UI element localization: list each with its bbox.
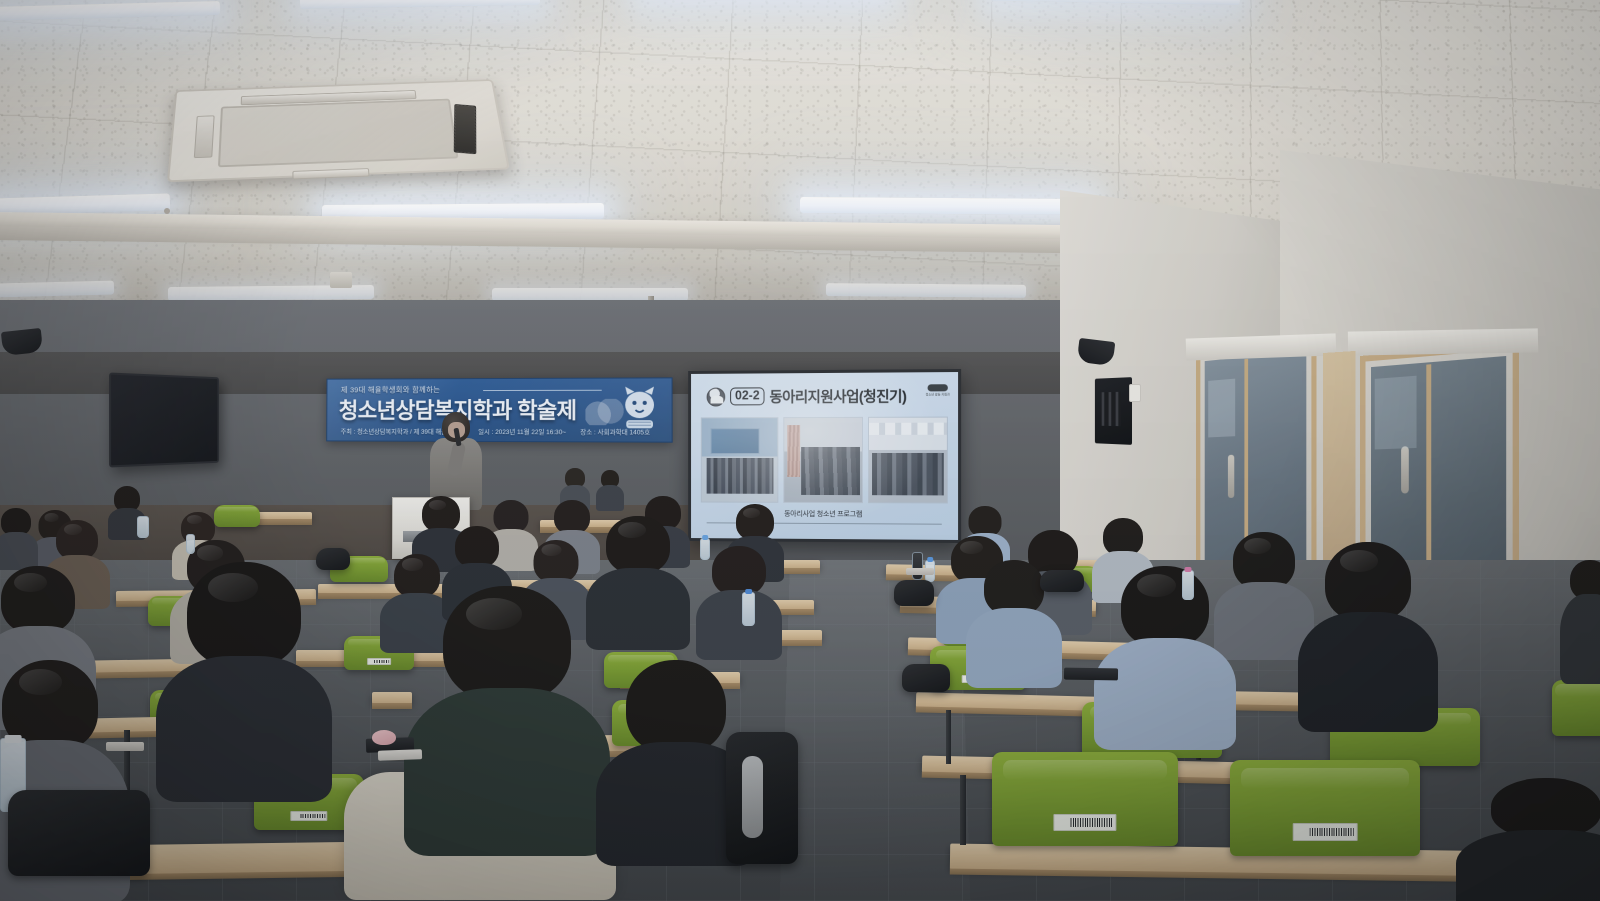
- audience-member: [1456, 778, 1600, 901]
- handbag: [1040, 570, 1084, 592]
- window-handle[interactable]: [1228, 455, 1234, 498]
- audience-member: [156, 562, 332, 792]
- window-blind-headrail[interactable]: [1348, 328, 1538, 355]
- water-bottle: [137, 516, 149, 538]
- chair[interactable]: [992, 752, 1178, 846]
- slide-photo-row: [701, 417, 948, 504]
- ceiling-light-panel: [800, 197, 1090, 215]
- water-bottle: [1182, 570, 1194, 600]
- computer-mouse[interactable]: [372, 730, 396, 745]
- window-handle[interactable]: [1401, 446, 1409, 493]
- backpack: [726, 732, 798, 864]
- audience-member: [404, 586, 610, 846]
- wall-switch-plate: [1129, 384, 1141, 402]
- ac-vane: [454, 104, 477, 154]
- slide-section-number: 02-2: [730, 387, 764, 406]
- water-bottle: [742, 592, 755, 626]
- paper-sheet: [378, 749, 422, 761]
- audience-member: [1298, 542, 1438, 726]
- tiger-mascot-icon: [614, 385, 665, 438]
- chair-asset-tag: [367, 658, 391, 664]
- chair[interactable]: [1552, 680, 1600, 736]
- chair-asset-tag: [290, 811, 327, 821]
- bottle-cap: [1185, 567, 1192, 572]
- desk-leg: [946, 710, 951, 764]
- paper-sheet: [906, 568, 934, 575]
- audience-member: [1560, 560, 1600, 680]
- notebook: [1064, 668, 1118, 681]
- slide-header: 02-2 동아리지원사업(청진기): [691, 380, 958, 411]
- slide-badge: 청소년 활동 지원과: [925, 384, 951, 400]
- slide-badge-text: 청소년 활동 지원과: [926, 392, 950, 396]
- handbag: [902, 664, 950, 692]
- tote-bag: [8, 790, 150, 876]
- wall-tv-bracket: [1095, 377, 1132, 445]
- lecture-hall-photo: EPSON 제 39대 해율학생회와 함께하는 청소년상담복지학과 학술제: [0, 0, 1600, 901]
- sprinkler-head: [164, 208, 170, 214]
- ac-filter-grille: [218, 99, 459, 168]
- water-bottle: [700, 538, 710, 560]
- slide-photo-2: [784, 417, 863, 503]
- wall-mounted-display: [109, 372, 219, 467]
- bottle-cap: [702, 535, 708, 540]
- window-reflection: [1208, 379, 1235, 438]
- banner-rule: [483, 390, 602, 391]
- bottle-cap: [927, 557, 933, 562]
- water-bottle: [186, 534, 195, 554]
- slide-photo-3: [868, 417, 948, 504]
- chair-asset-tag: [1053, 814, 1116, 831]
- bottle-cap: [745, 589, 753, 594]
- handbag: [894, 580, 934, 606]
- chair[interactable]: [1230, 760, 1420, 856]
- slide-badge-pill: [928, 384, 948, 391]
- speaker-at-front: [424, 412, 486, 508]
- character-avatar-icon: [707, 387, 726, 406]
- ac-vane: [194, 115, 215, 158]
- window-reflection: [1375, 376, 1417, 450]
- tumbler: [912, 552, 923, 580]
- audience-member: [0, 508, 38, 566]
- audience-member: [696, 546, 782, 656]
- audience-member: [596, 470, 624, 510]
- slide-title: 동아리지원사업(청진기): [769, 385, 906, 407]
- desk-leg: [960, 775, 966, 845]
- banner-datetime: 일시 : 2023년 11월 22일 16:30~: [478, 427, 566, 436]
- slide-photo-1: [701, 417, 779, 503]
- bottle-cap: [5, 735, 22, 743]
- ceiling-cassette-ac: [167, 79, 510, 182]
- audience-member: [1094, 566, 1236, 738]
- paper-sheet: [106, 742, 144, 751]
- event-banner: 제 39대 해율학생회와 함께하는 청소년상담복지학과 학술제 주최 : 청소년…: [326, 377, 672, 442]
- handbag: [316, 548, 350, 570]
- chair-asset-tag: [1293, 823, 1358, 840]
